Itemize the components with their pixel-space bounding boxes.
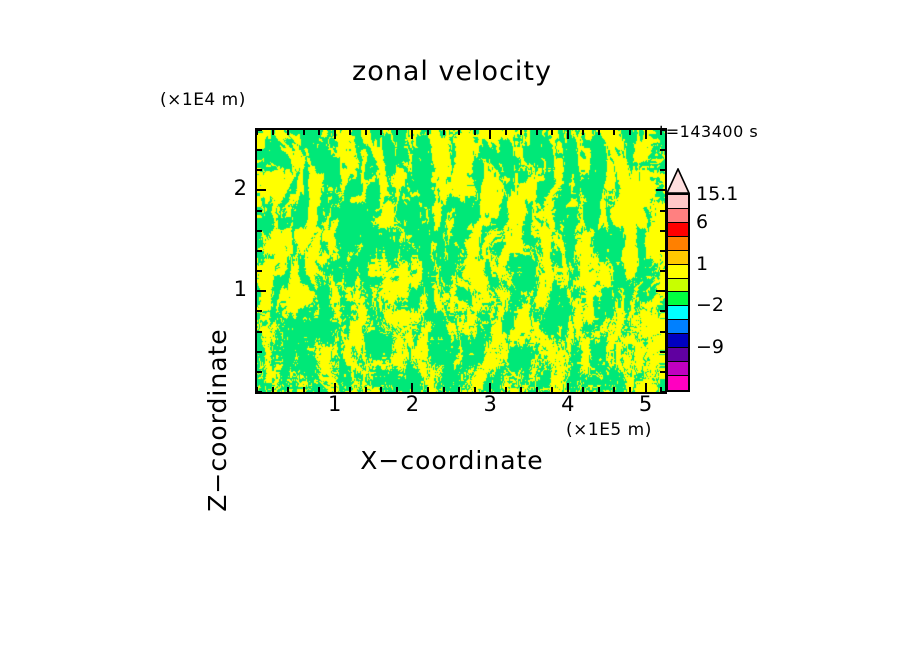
colorbar-band <box>668 348 688 362</box>
axis-tick <box>660 391 665 393</box>
axis-tick <box>536 387 538 392</box>
colorbar-tick-label: 6 <box>696 213 708 232</box>
axis-tick <box>567 130 569 139</box>
axis-tick <box>365 387 367 392</box>
axis-tick <box>660 331 665 333</box>
colorbar[interactable] <box>666 193 690 392</box>
axis-tick <box>257 129 262 131</box>
colorbar-band <box>668 223 688 237</box>
axis-tick <box>551 387 553 392</box>
axis-tick <box>427 130 429 135</box>
axis-tick <box>520 130 522 135</box>
axis-tick <box>303 130 305 135</box>
axis-tick <box>380 387 382 392</box>
y-tick-label: 1 <box>217 279 247 300</box>
axis-tick <box>567 383 569 392</box>
axis-tick <box>257 250 262 252</box>
axis-tick <box>318 130 320 135</box>
axis-tick <box>660 129 665 131</box>
axis-tick <box>458 387 460 392</box>
colorbar-band <box>668 237 688 251</box>
y-axis-unit-label: (×1E4 m) <box>160 92 246 109</box>
axis-tick <box>396 387 398 392</box>
axis-tick <box>645 383 647 392</box>
axis-tick <box>660 250 665 252</box>
axis-tick <box>318 387 320 392</box>
axis-tick <box>272 387 274 392</box>
axis-tick <box>257 149 262 151</box>
axis-tick <box>257 189 266 191</box>
axis-tick <box>598 130 600 135</box>
x-tick-label: 1 <box>315 394 355 415</box>
axis-tick <box>287 387 289 392</box>
axis-tick <box>582 387 584 392</box>
axis-tick <box>645 130 647 139</box>
colorbar-band <box>668 279 688 293</box>
colorbar-band <box>668 376 688 390</box>
colorbar-band <box>668 195 688 209</box>
timestamp-annotation: t=143400 s <box>659 124 758 140</box>
colorbar-tick-label: 15.1 <box>696 185 738 204</box>
axis-tick <box>396 130 398 135</box>
axis-tick <box>257 290 266 292</box>
axis-tick <box>660 270 665 272</box>
axis-tick <box>257 351 262 353</box>
velocity-field-heatmap <box>257 130 665 392</box>
colorbar-arrow-cap <box>666 168 690 194</box>
axis-tick <box>629 130 631 135</box>
axis-tick <box>257 230 262 232</box>
axis-tick <box>257 310 262 312</box>
axis-tick <box>660 210 665 212</box>
axis-tick <box>474 387 476 392</box>
axis-tick <box>629 387 631 392</box>
axis-tick <box>505 387 507 392</box>
axis-tick <box>257 371 262 373</box>
axis-tick <box>365 130 367 135</box>
axis-tick <box>551 130 553 135</box>
colorbar-band <box>668 306 688 320</box>
axis-tick <box>411 130 413 139</box>
axis-tick <box>287 130 289 135</box>
colorbar-tick-label: 1 <box>696 255 708 274</box>
axis-tick <box>443 130 445 135</box>
axis-tick <box>660 310 665 312</box>
axis-tick <box>489 383 491 392</box>
axis-tick <box>613 387 615 392</box>
axis-tick <box>303 387 305 392</box>
colorbar-band <box>668 251 688 265</box>
figure-canvas: zonal velocity (×1E4 m) (×1E5 m) t=14340… <box>0 0 904 654</box>
axis-tick <box>380 130 382 135</box>
axis-tick <box>257 331 262 333</box>
x-axis-unit-label: (×1E5 m) <box>566 422 652 439</box>
x-axis-title: X−coordinate <box>0 448 904 473</box>
axis-tick <box>257 391 262 393</box>
axis-tick <box>489 130 491 139</box>
axis-tick <box>257 270 262 272</box>
axis-tick <box>660 169 665 171</box>
axis-tick <box>411 383 413 392</box>
axis-tick <box>334 130 336 139</box>
axis-tick <box>257 169 262 171</box>
page-title: zonal velocity <box>0 58 904 85</box>
axis-tick <box>536 130 538 135</box>
plot-area <box>255 128 667 394</box>
axis-tick <box>272 130 274 135</box>
colorbar-band <box>668 209 688 223</box>
axis-tick <box>660 371 665 373</box>
axis-tick <box>257 210 262 212</box>
axis-tick <box>660 351 665 353</box>
x-tick-label: 5 <box>626 394 666 415</box>
axis-tick <box>474 130 476 135</box>
axis-tick <box>443 387 445 392</box>
y-tick-label: 2 <box>217 178 247 199</box>
axis-tick <box>349 130 351 135</box>
axis-tick <box>656 290 665 292</box>
colorbar-band <box>668 265 688 279</box>
axis-tick <box>598 387 600 392</box>
colorbar-band <box>668 362 688 376</box>
colorbar-band <box>668 334 688 348</box>
colorbar-tick-label: −9 <box>696 338 724 357</box>
x-tick-label: 2 <box>392 394 432 415</box>
colorbar-band <box>668 292 688 306</box>
axis-tick <box>656 189 665 191</box>
axis-tick <box>660 230 665 232</box>
axis-tick <box>427 387 429 392</box>
y-axis-title: Z−coordinate <box>205 320 230 520</box>
axis-tick <box>582 130 584 135</box>
axis-tick <box>458 130 460 135</box>
axis-tick <box>505 130 507 135</box>
axis-tick <box>334 383 336 392</box>
axis-tick <box>349 387 351 392</box>
axis-tick <box>660 149 665 151</box>
axis-tick <box>520 387 522 392</box>
x-tick-label: 3 <box>470 394 510 415</box>
x-tick-label: 4 <box>548 394 588 415</box>
colorbar-tick-label: −2 <box>696 296 724 315</box>
colorbar-band <box>668 320 688 334</box>
axis-tick <box>613 130 615 135</box>
